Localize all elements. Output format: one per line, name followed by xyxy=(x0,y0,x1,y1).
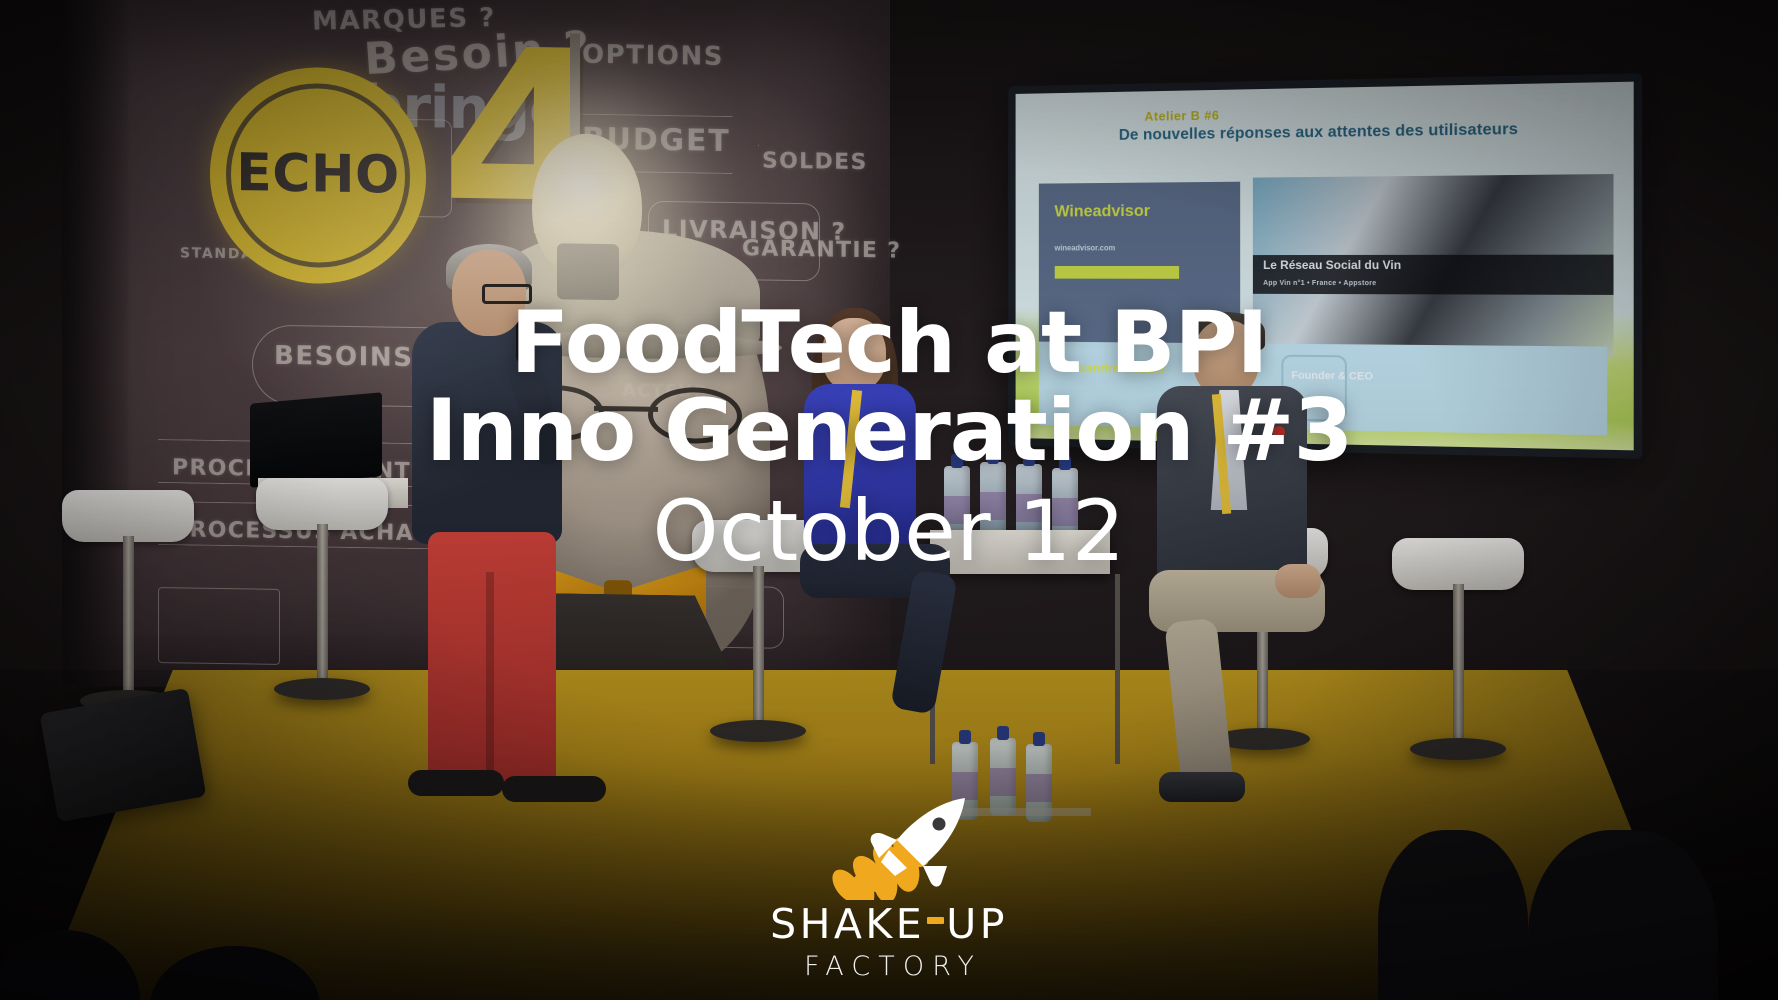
title-block: FoodTech at BPI Inno Generation #3 Octob… xyxy=(0,300,1778,575)
title-line-1: FoodTech at BPI xyxy=(0,300,1778,388)
overlay-layer: FoodTech at BPI Inno Generation #3 Octob… xyxy=(0,0,1778,1000)
title-line-2: Inno Generation #3 xyxy=(0,388,1778,476)
logo-word-part2: UP xyxy=(946,904,1008,945)
promo-banner: MARQUES ? Besoin ? OPTIONS BUDGET LIVRAI… xyxy=(0,0,1778,1000)
rocket-wheat-icon xyxy=(789,790,989,900)
logo-word-part1: SHAKE xyxy=(770,904,925,945)
event-date: October 12 xyxy=(0,489,1778,575)
shakeup-factory-logo: SHAKE UP FACTORY xyxy=(739,790,1039,980)
logo-dash-accent xyxy=(927,917,944,924)
logo-wordmark: SHAKE UP xyxy=(739,904,1039,945)
logo-subtitle: FACTORY xyxy=(739,953,1039,980)
